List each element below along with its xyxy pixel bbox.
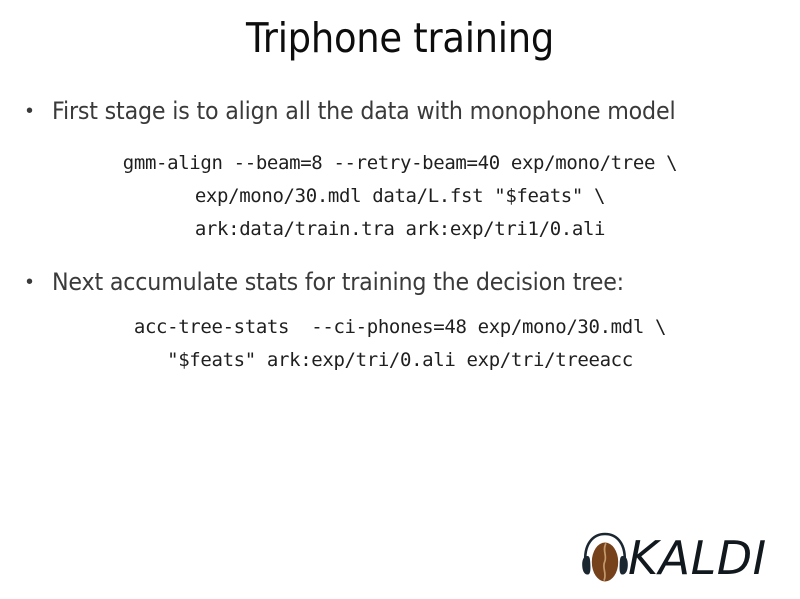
kaldi-wordmark: KALDI [628, 535, 767, 581]
bullet-item-1: • First stage is to align all the data w… [22, 96, 782, 126]
bullet-marker-icon: • [22, 96, 52, 126]
code-block-acc-tree-stats: acc-tree-stats --ci-phones=48 exp/mono/3… [0, 311, 800, 377]
code-line: exp/mono/30.mdl data/L.fst "$feats" \ [0, 180, 800, 213]
slide: Triphone training • First stage is to al… [0, 0, 800, 599]
bullet-text-2: Next accumulate stats for training the d… [52, 267, 727, 297]
coffee-bean-headphones-icon [578, 530, 632, 586]
bullet-marker-icon: • [22, 267, 52, 297]
code-line: ark:data/train.tra ark:exp/tri1/0.ali [0, 213, 800, 246]
bullet-item-2: • Next accumulate stats for training the… [22, 267, 782, 297]
page-title: Triphone training [40, 14, 760, 62]
code-line: "$feats" ark:exp/tri/0.ali exp/tri/treea… [0, 344, 800, 377]
code-line: acc-tree-stats --ci-phones=48 exp/mono/3… [0, 311, 800, 344]
kaldi-logo: KALDI [578, 528, 790, 588]
bullet-text-1: First stage is to align all the data wit… [52, 96, 727, 126]
code-block-gmm-align: gmm-align --beam=8 --retry-beam=40 exp/m… [0, 147, 800, 246]
code-line: gmm-align --beam=8 --retry-beam=40 exp/m… [0, 147, 800, 180]
